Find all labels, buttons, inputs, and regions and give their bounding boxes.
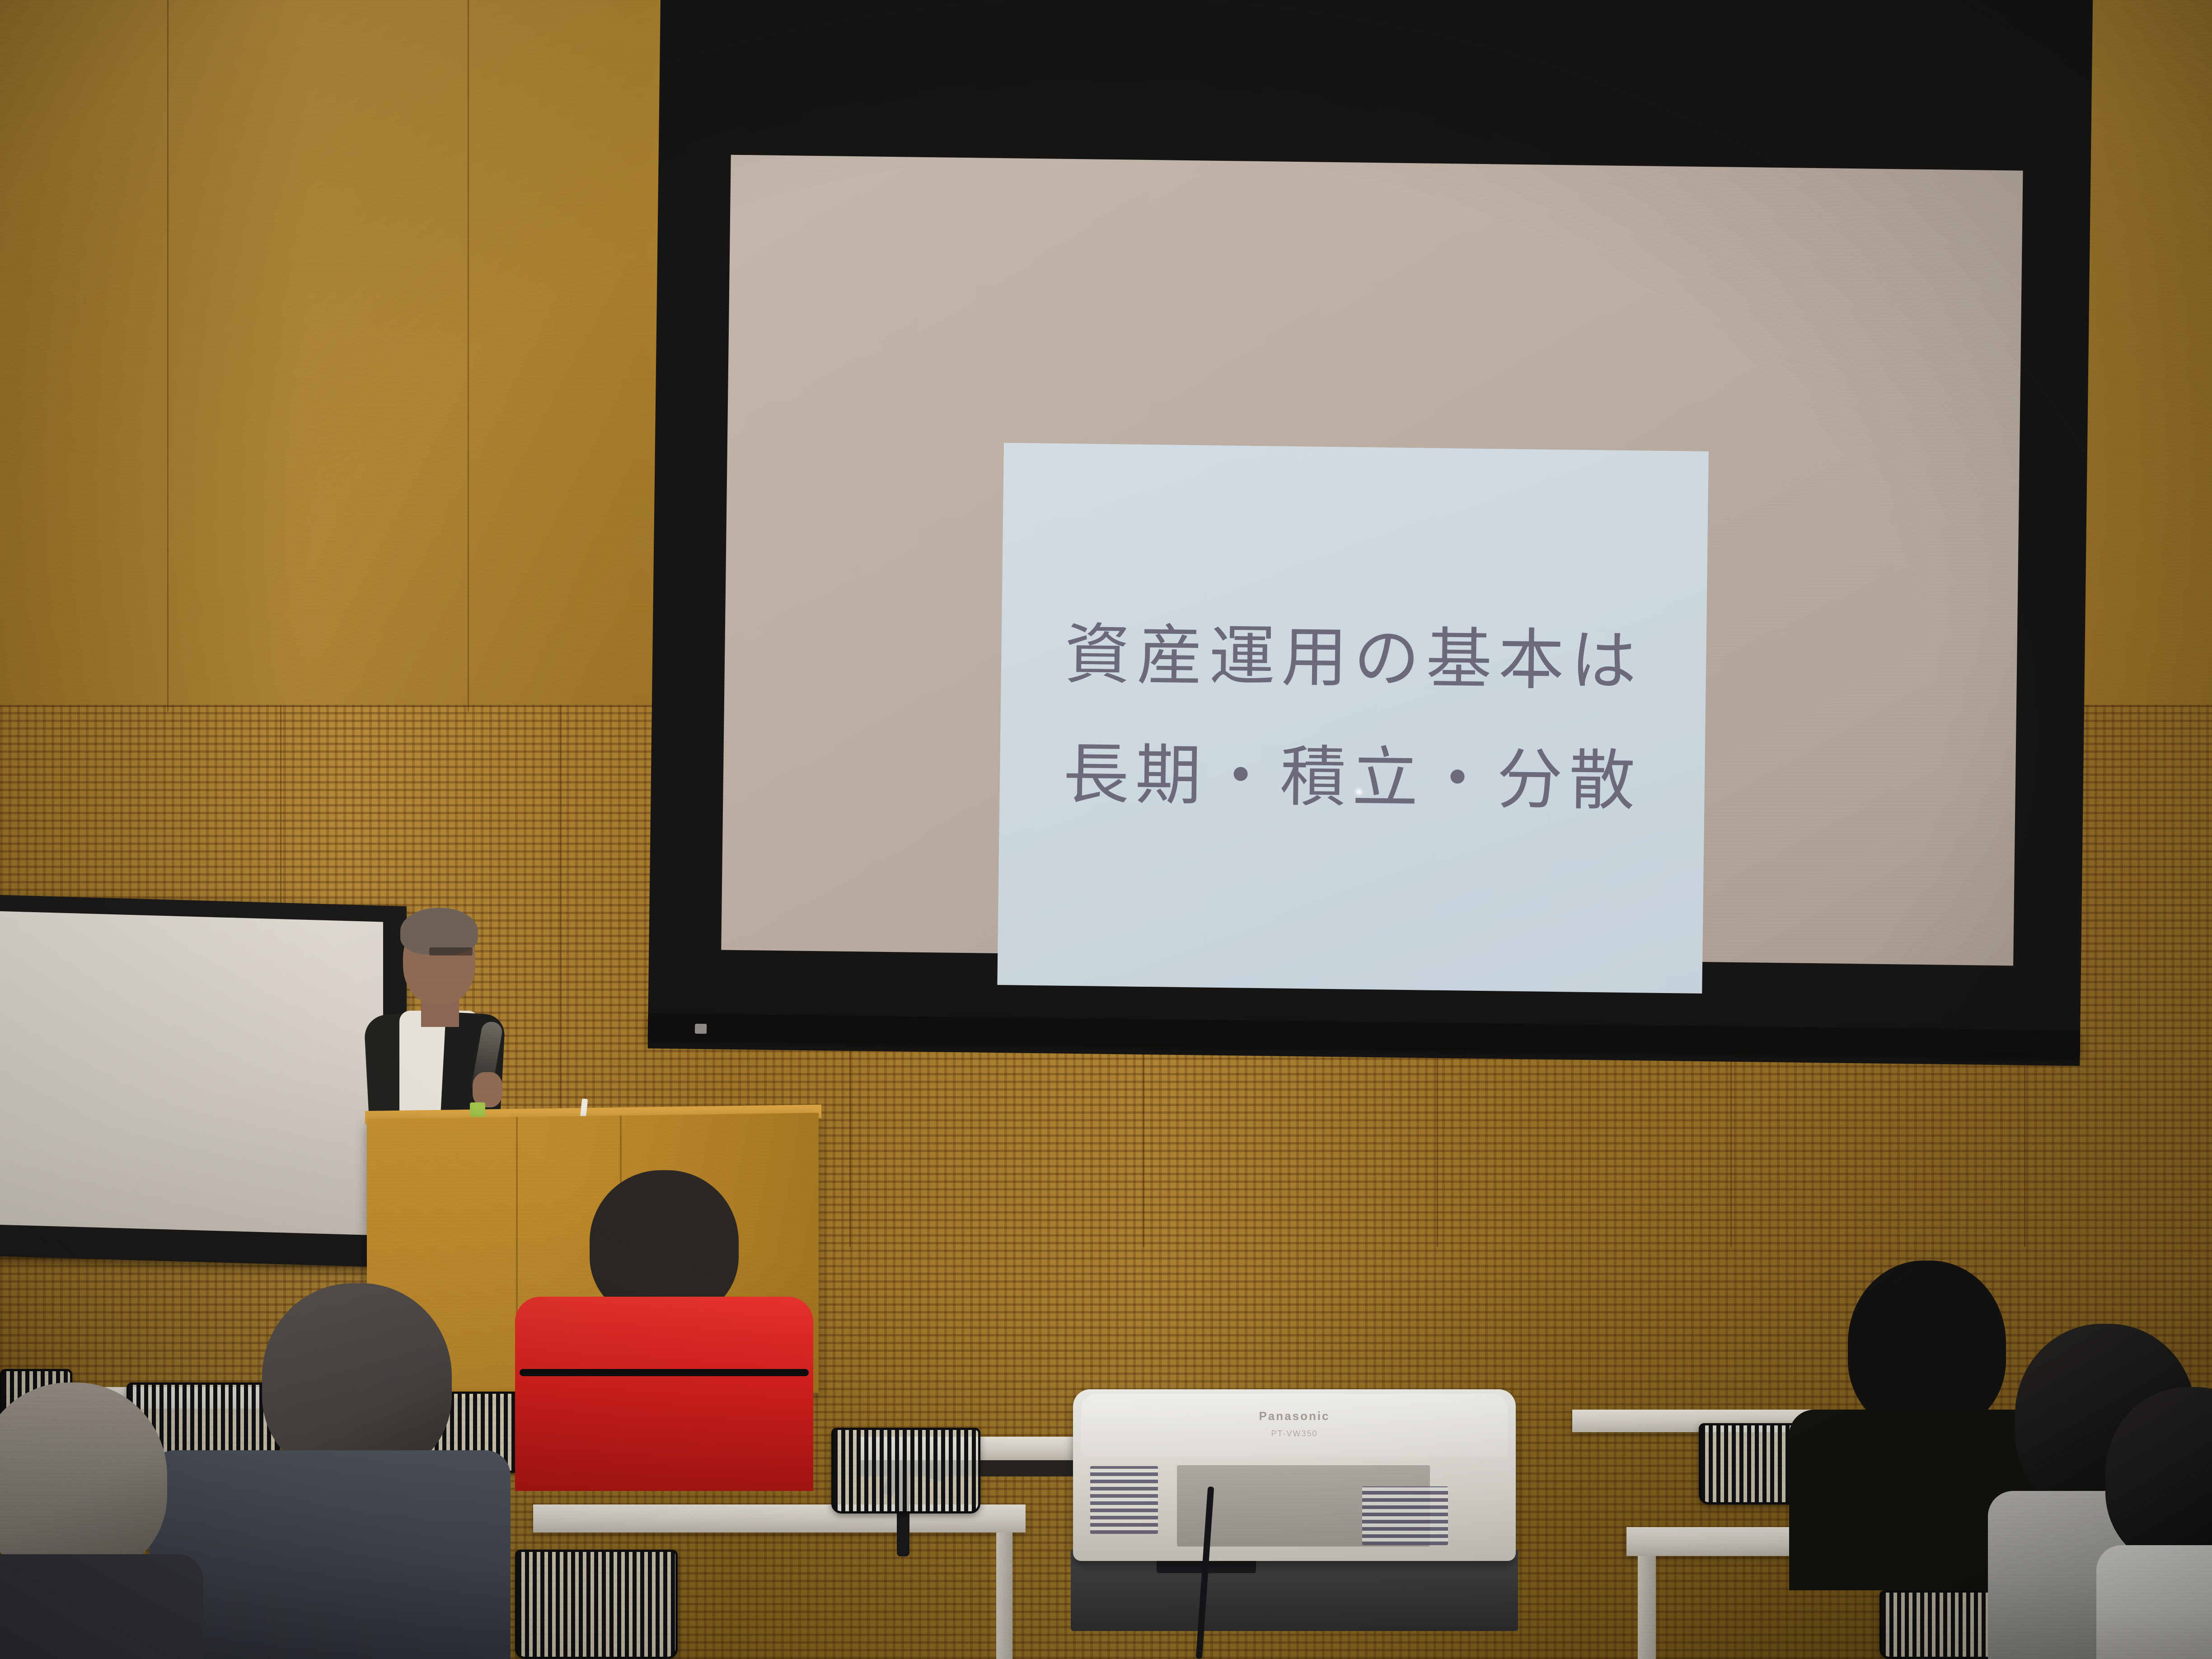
projector[interactable]: Panasonic PT-VW350 bbox=[1073, 1389, 1516, 1561]
desk-leg bbox=[996, 1532, 1012, 1659]
wall-seam bbox=[167, 0, 169, 712]
audience-head bbox=[262, 1283, 452, 1477]
screen-weight-bar bbox=[648, 1013, 2080, 1056]
chair[interactable] bbox=[831, 1428, 980, 1514]
screen-pull-knob[interactable] bbox=[695, 1024, 707, 1034]
audience-torso bbox=[2096, 1545, 2212, 1659]
audience-torso bbox=[515, 1297, 813, 1491]
podium-object bbox=[470, 1102, 485, 1117]
audience-head bbox=[2105, 1387, 2212, 1568]
slide-line-2: 長期・積立・分散 bbox=[1063, 738, 1642, 818]
projector-cart bbox=[1071, 1550, 1518, 1631]
audience-member-right-white bbox=[2096, 1387, 2212, 1659]
audience-head bbox=[1848, 1261, 2006, 1432]
whiteboard[interactable] bbox=[0, 895, 407, 1268]
projector-brand-label: Panasonic bbox=[1073, 1409, 1516, 1423]
chair[interactable] bbox=[515, 1550, 678, 1659]
chair-backrest-top bbox=[520, 1369, 809, 1376]
projector-vent-left bbox=[1090, 1466, 1158, 1534]
audience-torso bbox=[0, 1554, 203, 1659]
audience-torso bbox=[149, 1450, 511, 1659]
projector-model-label: PT-VW350 bbox=[1073, 1429, 1516, 1439]
projection-screen[interactable]: 資産運用の基本は 長期・積立・分散 bbox=[648, 0, 2093, 1066]
projector-top-cover bbox=[1081, 1394, 1508, 1457]
slide-line-1: 資産運用の基本は bbox=[1064, 619, 1643, 698]
whiteboard-surface bbox=[0, 911, 383, 1236]
audience-member-center-red bbox=[515, 1170, 813, 1486]
audience-member-front-left-grey bbox=[0, 1382, 203, 1659]
projected-slide: 資産運用の基本は 長期・積立・分散 bbox=[997, 443, 1709, 994]
lecture-hall-scene: 資産運用の基本は 長期・積立・分散 bbox=[0, 0, 2212, 1659]
projector-glint bbox=[1355, 789, 1362, 795]
wall-seam bbox=[468, 0, 469, 712]
audience-head bbox=[0, 1382, 167, 1577]
glasses-icon bbox=[429, 947, 473, 956]
projector-vent-right bbox=[1362, 1486, 1448, 1545]
audience-member-front-left-dark bbox=[149, 1283, 511, 1659]
desk-leg bbox=[1638, 1556, 1656, 1659]
screen-surface: 資産運用の基本は 長期・積立・分散 bbox=[721, 155, 2023, 966]
